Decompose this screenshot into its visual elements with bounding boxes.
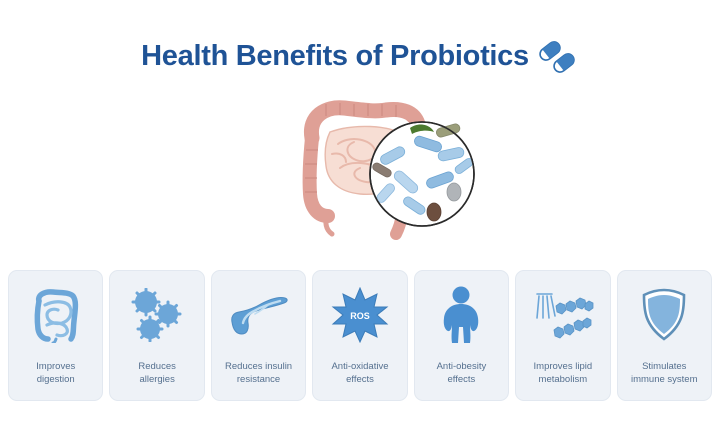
intestine-icon — [23, 284, 89, 346]
benefit-label: Stimulates immune system — [622, 361, 707, 386]
benefit-label-line1: Anti-obesity — [419, 361, 504, 374]
benefit-label-line2: immune system — [622, 374, 707, 387]
benefit-label: Reduces allergies — [114, 361, 199, 386]
benefit-card-stimulates-immune-system[interactable]: Stimulates immune system — [617, 270, 712, 401]
benefit-label-line2: digestion — [13, 374, 98, 387]
benefit-label: Anti-oxidative effects — [317, 361, 402, 386]
benefit-label-line2: effects — [317, 374, 402, 387]
benefit-card-reduces-allergies[interactable]: Reduces allergies — [109, 270, 204, 401]
obese-body-icon — [428, 284, 494, 346]
benefit-card-improves-lipid-metabolism[interactable]: Improves lipid metabolism — [515, 270, 610, 401]
ros-burst-icon: ROS — [327, 284, 393, 346]
page-title: Health Benefits of Probiotics — [141, 40, 529, 73]
benefit-card-improves-digestion[interactable]: Improves digestion — [8, 270, 103, 401]
lipid-chain-lower — [554, 318, 591, 338]
benefit-label: Improves lipid metabolism — [520, 361, 605, 386]
benefit-label: Improves digestion — [13, 361, 98, 386]
allergen-particles-icon — [124, 284, 190, 346]
benefit-label-line2: metabolism — [520, 374, 605, 387]
infographic-root: Health Benefits of Probiotics — [0, 0, 720, 437]
lipid-chain-upper — [556, 298, 593, 314]
benefit-label-line1: Improves lipid — [520, 361, 605, 374]
benefit-label: Anti-obesity effects — [419, 361, 504, 386]
benefit-card-anti-oxidative-effects[interactable]: ROS Anti-oxidative effects — [312, 270, 407, 401]
page-title-row: Health Benefits of Probiotics — [0, 38, 720, 74]
benefit-label-line1: Improves — [13, 361, 98, 374]
benefit-label-line1: Reduces insulin — [216, 361, 301, 374]
benefit-label: Reduces insulin resistance — [216, 361, 301, 386]
benefit-card-reduces-insulin-resistance[interactable]: Reduces insulin resistance — [211, 270, 306, 401]
benefit-label-line2: effects — [419, 374, 504, 387]
capsule-pills-icon — [537, 40, 579, 74]
benefit-label-line2: allergies — [114, 374, 199, 387]
lipid-molecules-icon — [530, 284, 596, 346]
benefit-label-line2: resistance — [216, 374, 301, 387]
decrease-lines — [537, 294, 555, 318]
benefit-label-line1: Reduces — [114, 361, 199, 374]
intestine-with-gut-bacteria-illustration — [282, 96, 482, 244]
benefits-card-strip: Improves digestion — [8, 270, 712, 401]
ros-label: ROS — [350, 311, 370, 321]
pancreas-icon — [226, 284, 292, 346]
benefit-label-line1: Stimulates — [622, 361, 707, 374]
benefit-card-anti-obesity-effects[interactable]: Anti-obesity effects — [414, 270, 509, 401]
shield-icon — [631, 284, 697, 346]
benefit-label-line1: Anti-oxidative — [317, 361, 402, 374]
magnifier-circle — [370, 122, 474, 226]
